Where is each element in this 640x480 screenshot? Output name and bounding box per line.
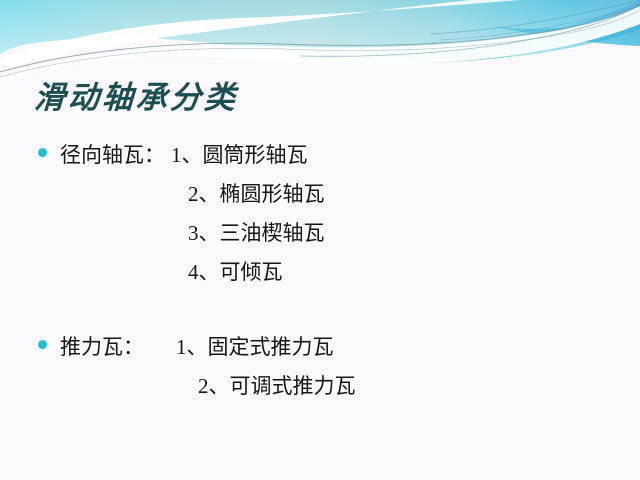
page-title: 滑动轴承分类 — [33, 78, 595, 118]
list-item[interactable]: 推力瓦： 1、固定式推力瓦 — [0, 328, 640, 367]
list-item[interactable]: 2、可调式推力瓦 — [0, 367, 640, 406]
list-item[interactable]: 3、三油楔轴瓦 — [0, 214, 640, 253]
list-item[interactable]: 4、可倾瓦 — [0, 253, 640, 292]
bullet-dot-icon — [38, 340, 47, 349]
bullet-label-thrust: 推力瓦： — [38, 328, 144, 367]
list-item[interactable]: 2、椭圆形轴瓦 — [0, 175, 640, 214]
body-content: 径向轴瓦： 1、圆筒形轴瓦 2、椭圆形轴瓦 3、三油楔轴瓦 4、可倾瓦 推力瓦：… — [0, 136, 640, 406]
slide-canvas: 滑动轴承分类 径向轴瓦： 1、圆筒形轴瓦 2、椭圆形轴瓦 3、三油楔轴瓦 4、可… — [0, 0, 640, 480]
title-block: 滑动轴承分类 — [34, 78, 594, 122]
list-item-text: 2、椭圆形轴瓦 — [188, 175, 325, 214]
list-item-text: 1、固定式推力瓦 — [176, 328, 334, 367]
bullet-dot-icon — [38, 148, 47, 157]
list-item-text: 4、可倾瓦 — [188, 253, 283, 292]
bullet-group-radial: 径向轴瓦： 1、圆筒形轴瓦 2、椭圆形轴瓦 3、三油楔轴瓦 4、可倾瓦 — [0, 136, 640, 292]
bullet-group-thrust: 推力瓦： 1、固定式推力瓦 2、可调式推力瓦 — [0, 328, 640, 406]
list-item-text: 3、三油楔轴瓦 — [188, 214, 325, 253]
list-item-text: 2、可调式推力瓦 — [198, 367, 356, 406]
list-item-text: 1、圆筒形轴瓦 — [171, 136, 308, 175]
header-wave-decoration — [0, 0, 640, 86]
bullet-label-radial: 径向轴瓦： — [38, 136, 165, 175]
wave-graphic — [0, 0, 640, 86]
list-item[interactable]: 径向轴瓦： 1、圆筒形轴瓦 — [0, 136, 640, 175]
